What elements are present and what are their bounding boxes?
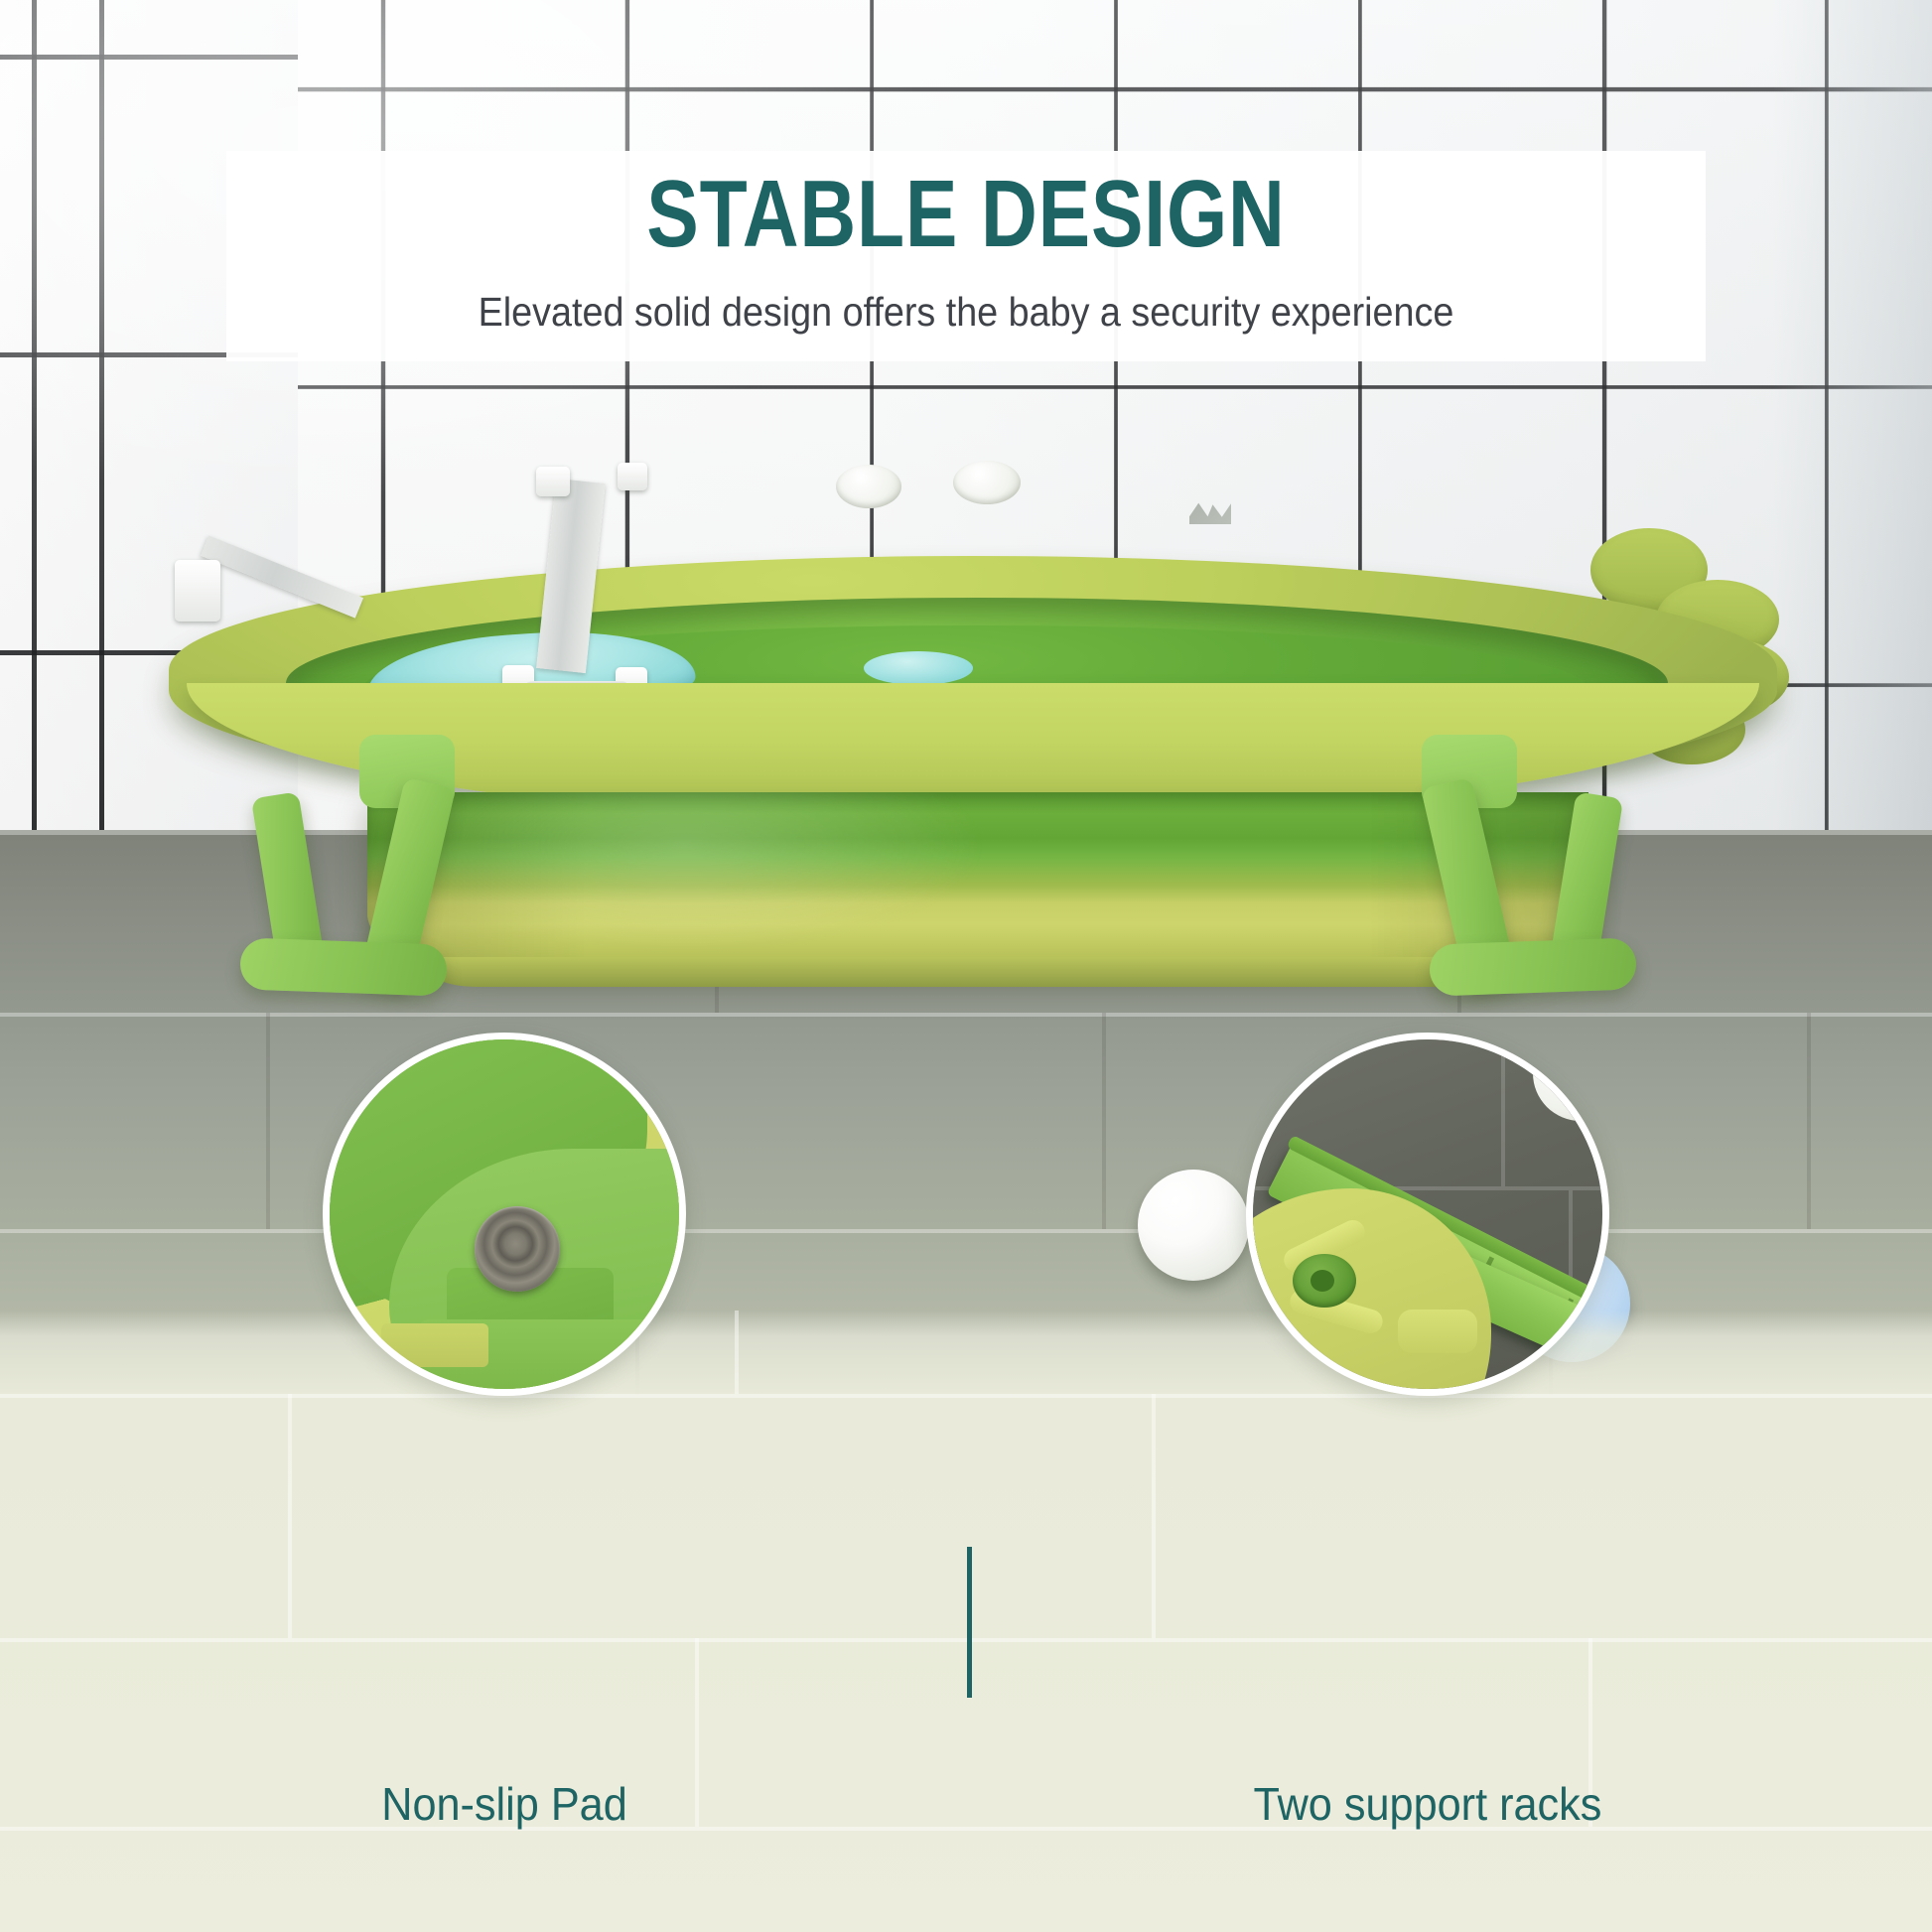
callout-non-slip-pad: [323, 1033, 686, 1396]
callout-two-support-racks: [1246, 1033, 1609, 1396]
strap-clip-top-2: [618, 463, 647, 490]
non-slip-rubber-pad: [475, 1206, 560, 1292]
strap-clip-top: [536, 467, 570, 496]
toy-ball-white-large: [1138, 1170, 1249, 1281]
tub-collapsible-body: [367, 792, 1588, 971]
page-title: STABLE DESIGN: [359, 167, 1573, 262]
baby-support-cushion-secondary: [864, 651, 973, 685]
tub-drain-knob-left: [836, 465, 901, 508]
caption-two-support-racks: Two support racks: [1129, 1777, 1726, 1831]
tub-base-foot: [417, 957, 1539, 987]
product-feature-image: STABLE DESIGN Elevated solid design offe…: [0, 0, 1932, 1932]
caption-non-slip-pad: Non-slip Pad: [206, 1777, 803, 1831]
header-banner: STABLE DESIGN Elevated solid design offe…: [226, 151, 1706, 361]
bottom-caption-panel: [0, 1311, 1932, 1932]
page-subtitle: Elevated solid design offers the baby a …: [286, 290, 1647, 335]
callout-two-support-racks-image: [1253, 1039, 1602, 1389]
strap-buckle-left: [175, 560, 220, 621]
callout-divider: [967, 1547, 972, 1698]
baby-bath-tub: [169, 556, 1777, 1013]
tub-drain-knob-right: [953, 461, 1021, 504]
callout-non-slip-pad-image: [330, 1039, 679, 1389]
tiled-wall-right-shading: [1773, 0, 1932, 834]
